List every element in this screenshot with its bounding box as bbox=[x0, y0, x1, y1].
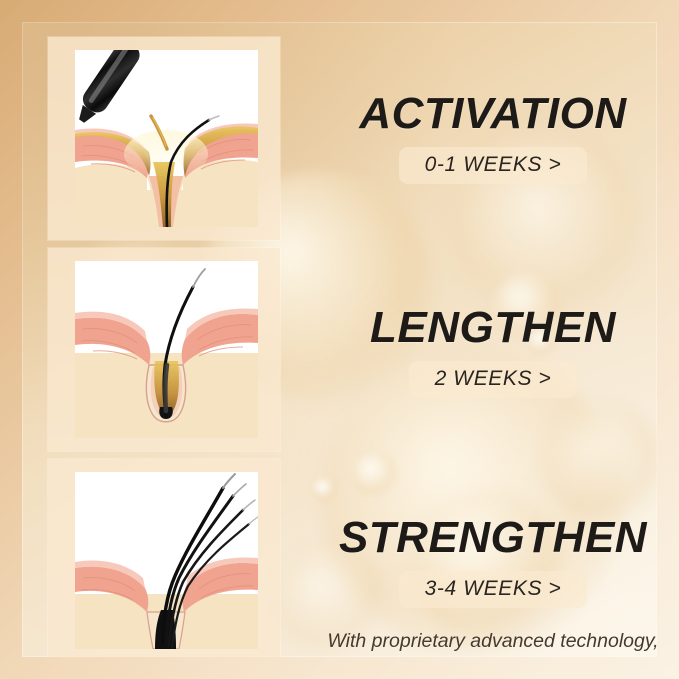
step-title-strengthen: STRENGTHEN bbox=[307, 516, 657, 561]
step-title-activation: ACTIVATION bbox=[307, 92, 657, 137]
footer-caption-line-2: lashes are stronger and shedding is impr… bbox=[307, 656, 657, 657]
illustration-panel-strengthen bbox=[48, 459, 280, 657]
steps-column: ACTIVATION 0-1 WEEKS > LENGTHEN 2 WEEKS … bbox=[307, 44, 657, 657]
illustration-panel-lengthen bbox=[48, 248, 280, 451]
illustration-panel-activation bbox=[48, 37, 280, 240]
poster-inner: ACTIVATION 0-1 WEEKS > LENGTHEN 2 WEEKS … bbox=[22, 22, 657, 657]
multiple-thick-lashes-from-follicle-icon bbox=[75, 472, 258, 649]
step-duration-strengthen[interactable]: 3-4 WEEKS > bbox=[399, 571, 588, 608]
serum-applicator-on-follicle-icon bbox=[75, 50, 258, 227]
step-title-lengthen: LENGTHEN bbox=[307, 306, 657, 351]
step-strengthen: STRENGTHEN 3-4 WEEKS > bbox=[307, 516, 657, 608]
step-activation: ACTIVATION 0-1 WEEKS > bbox=[307, 92, 657, 184]
step-lengthen: LENGTHEN 2 WEEKS > bbox=[307, 306, 657, 398]
poster: ACTIVATION 0-1 WEEKS > LENGTHEN 2 WEEKS … bbox=[0, 0, 679, 679]
footer-caption-line-1: With proprietary advanced technology, bbox=[307, 628, 657, 656]
single-lash-growing-from-follicle-icon bbox=[75, 261, 258, 438]
footer-caption: With proprietary advanced technology, la… bbox=[307, 628, 657, 657]
illustration-panel-list bbox=[48, 37, 280, 657]
step-duration-lengthen[interactable]: 2 WEEKS > bbox=[409, 361, 578, 398]
step-duration-activation[interactable]: 0-1 WEEKS > bbox=[399, 147, 588, 184]
